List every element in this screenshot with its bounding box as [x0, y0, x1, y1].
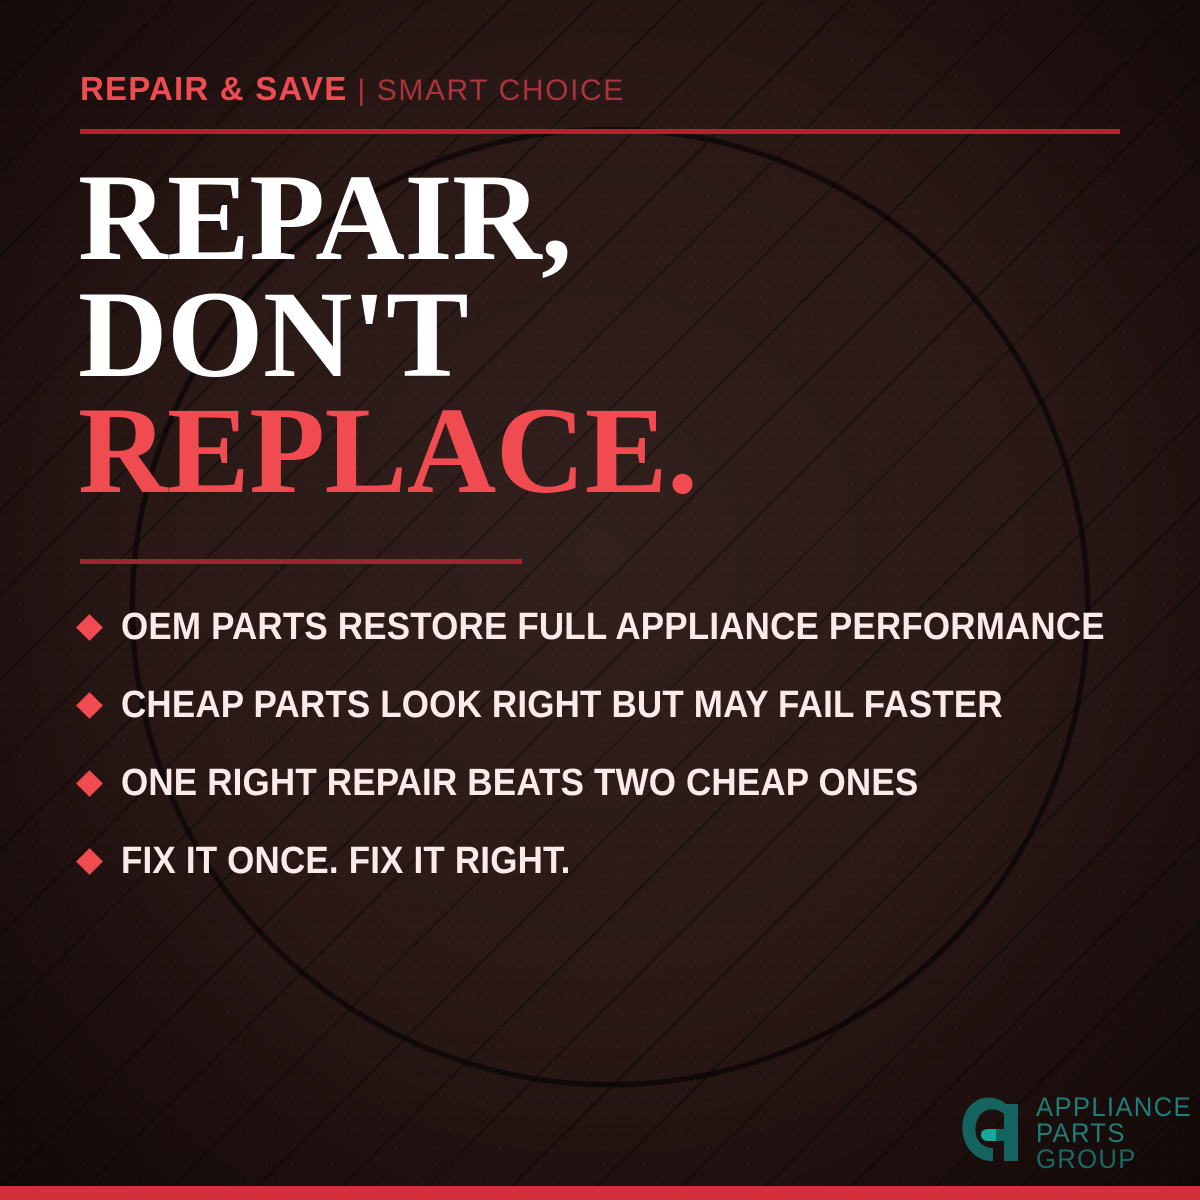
list-item-label: ONE RIGHT REPAIR BEATS TWO CHEAP ONES [121, 762, 918, 805]
diamond-icon [76, 692, 103, 719]
headline-line-2: DON'T [78, 277, 698, 394]
header-rule [80, 129, 1120, 134]
headline-line-1: REPAIR, [78, 160, 698, 277]
list-item-label: OEM PARTS RESTORE FULL APPLIANCE PERFORM… [121, 606, 1105, 649]
diamond-icon [76, 848, 103, 875]
promo-poster: REPAIR & SAVE| SMART CHOICE REPAIR, DON'… [0, 0, 1200, 1200]
list-item: OEM PARTS RESTORE FULL APPLIANCE PERFORM… [80, 588, 1150, 666]
brand-line-3: GROUP [1036, 1146, 1192, 1172]
eyebrow-kicker: REPAIR & SAVE [80, 70, 347, 107]
brand-logo: APPLIANCE PARTS GROUP [952, 1092, 1200, 1173]
g-monogram-icon [952, 1092, 1024, 1170]
page-title: REPAIR, DON'T REPLACE. [78, 160, 698, 510]
diamond-icon [76, 770, 103, 797]
poster-content: REPAIR & SAVE| SMART CHOICE REPAIR, DON'… [0, 0, 1200, 1200]
benefits-list: OEM PARTS RESTORE FULL APPLIANCE PERFORM… [80, 588, 1150, 900]
diamond-icon [76, 614, 103, 641]
brand-line-2: PARTS [1036, 1120, 1192, 1146]
list-item-label: FIX IT ONCE. FIX IT RIGHT. [121, 840, 571, 883]
list-item-label: CHEAP PARTS LOOK RIGHT BUT MAY FAIL FAST… [121, 684, 1003, 727]
headline-line-3: REPLACE. [78, 393, 698, 510]
eyebrow-header: REPAIR & SAVE| SMART CHOICE [80, 72, 625, 106]
brand-logo-text: APPLIANCE PARTS GROUP [1036, 1092, 1200, 1173]
list-item: CHEAP PARTS LOOK RIGHT BUT MAY FAIL FAST… [80, 666, 1150, 744]
list-item: FIX IT ONCE. FIX IT RIGHT. [80, 822, 1150, 900]
list-item: ONE RIGHT REPAIR BEATS TWO CHEAP ONES [80, 744, 1150, 822]
bottom-accent-bar [0, 1186, 1200, 1200]
brand-line-1: APPLIANCE [1036, 1094, 1192, 1120]
eyebrow-subtitle: | SMART CHOICE [357, 74, 624, 107]
section-divider [80, 559, 522, 564]
